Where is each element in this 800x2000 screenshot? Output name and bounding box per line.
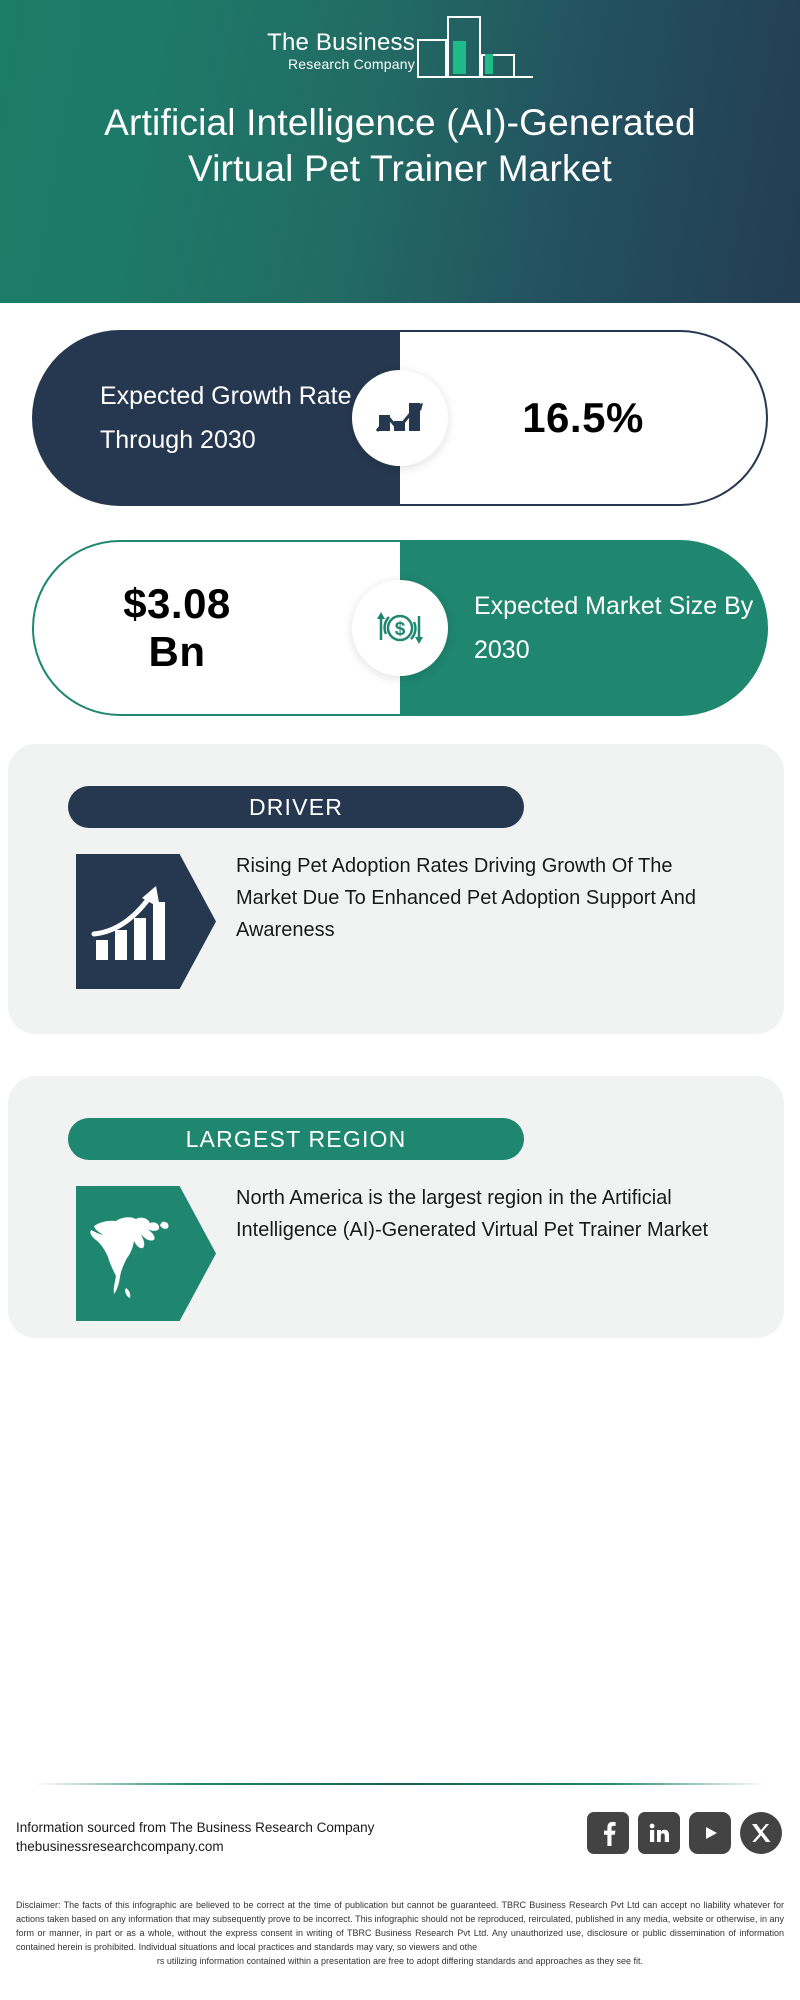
logo-bar-green-1 — [453, 41, 466, 74]
bar-chart-growth-arrow-icon — [352, 370, 448, 466]
north-america-map-icon — [76, 1186, 216, 1321]
kpi-size-label-panel: Expected Market Size By 2030 — [400, 540, 768, 716]
source-attribution: Information sourced from The Business Re… — [16, 1818, 436, 1856]
largest-region-panel: LARGEST REGION North America is the larg… — [8, 1076, 784, 1338]
kpi-growth-label-panel: Expected Growth Rate Through 2030 — [32, 330, 400, 506]
page-title: Artificial Intelligence (AI)-Generated V… — [80, 100, 720, 192]
kpi-growth-label: Expected Growth Rate Through 2030 — [32, 330, 400, 506]
kpi-growth-value: 16.5% — [400, 332, 766, 504]
kpi-card-market-size: $3.08 Bn Expected Market Size By 2030 $ — [32, 540, 768, 716]
dollar-circular-arrows-icon: $ — [352, 580, 448, 676]
largest-region-pill: LARGEST REGION — [68, 1118, 524, 1160]
logo-line-2: Research Company — [288, 56, 415, 72]
footer-divider — [34, 1783, 766, 1785]
kpi-growth-value-panel: 16.5% — [400, 330, 768, 506]
logo-wordmark: The Business Research Company — [267, 30, 415, 78]
facebook-icon[interactable] — [587, 1812, 629, 1854]
largest-region-text: North America is the largest region in t… — [236, 1182, 736, 1246]
svg-text:$: $ — [395, 619, 406, 640]
source-line-1: Information sourced from The Business Re… — [16, 1818, 436, 1837]
disclaimer-main: Disclaimer: The facts of this infographi… — [16, 1900, 784, 1952]
logo-bar-green-2 — [485, 54, 493, 74]
driver-text: Rising Pet Adoption Rates Driving Growth… — [236, 850, 736, 946]
kpi-size-value-line1: $3.08 — [123, 580, 231, 628]
bar-chart-logo-mark — [417, 16, 533, 78]
kpi-size-value-panel: $3.08 Bn — [32, 540, 400, 716]
social-links — [587, 1812, 782, 1854]
infographic-page: The Business Research Company Artificial… — [0, 0, 800, 2000]
source-line-2[interactable]: thebusinessresearchcompany.com — [16, 1837, 436, 1856]
company-logo: The Business Research Company — [267, 18, 533, 78]
kpi-size-label: Expected Market Size By 2030 — [400, 540, 768, 716]
logo-bar-outline-1 — [417, 39, 447, 76]
driver-pill: DRIVER — [68, 786, 524, 828]
kpi-size-value: $3.08 Bn — [34, 542, 400, 714]
kpi-card-growth-rate: Expected Growth Rate Through 2030 16.5% — [32, 330, 768, 506]
driver-panel: DRIVER Rising Pet Adoption Rates Driving… — [8, 744, 784, 1034]
header-banner: The Business Research Company Artificial… — [0, 0, 800, 303]
kpi-size-value-line2: Bn — [149, 628, 206, 676]
x-twitter-icon[interactable] — [740, 1812, 782, 1854]
linkedin-icon[interactable] — [638, 1812, 680, 1854]
logo-line-1: The Business — [267, 30, 415, 56]
disclaimer-last-line: rs utilizing information contained withi… — [16, 1954, 784, 1968]
growth-bar-chart-arrow-icon — [76, 854, 216, 989]
logo-baseline — [417, 76, 533, 78]
youtube-icon[interactable] — [689, 1812, 731, 1854]
disclaimer-text: Disclaimer: The facts of this infographi… — [16, 1898, 784, 1968]
